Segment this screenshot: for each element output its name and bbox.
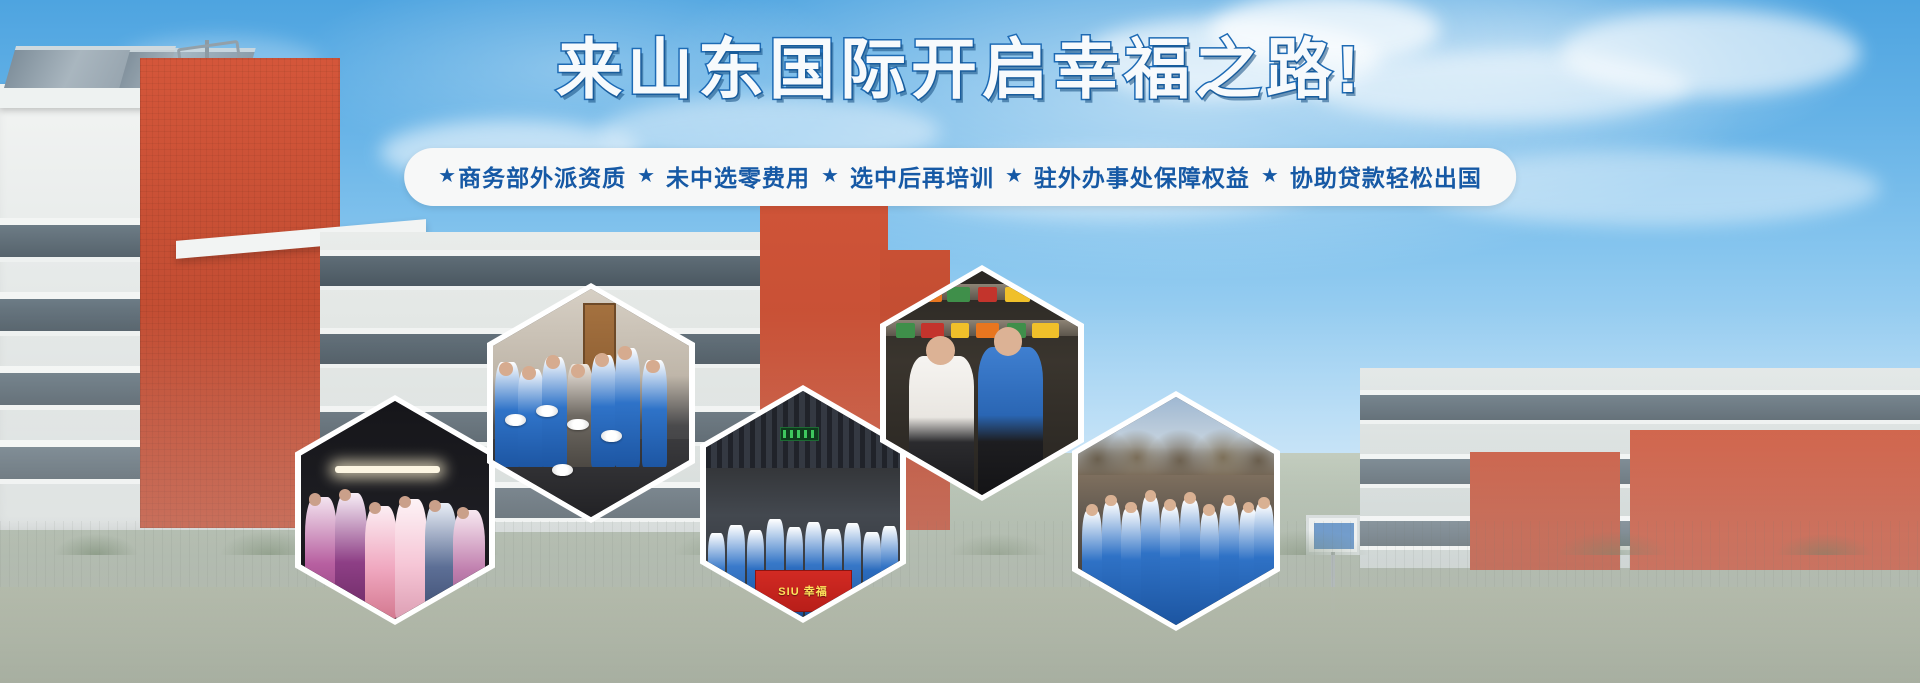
photo-red-banner: SIU 幸福	[755, 570, 852, 613]
promo-banner: 来山东国际开启幸福之路! ★ 商务部外派资质 ★ 未中选零费用 ★ 选中后再培训…	[0, 0, 1920, 683]
photo-banner-text: SIU 幸福	[778, 583, 827, 599]
star-icon: ★	[626, 166, 666, 186]
star-icon: ★	[810, 166, 850, 186]
photo-outdoor-group[interactable]	[1072, 391, 1280, 631]
feature-item-4: 协助贷款轻松出国	[1290, 159, 1482, 193]
photo-yukata-group[interactable]	[295, 395, 495, 625]
feature-item-3: 驻外办事处保障权益	[1034, 159, 1250, 193]
star-icon: ★	[438, 166, 458, 186]
star-icon: ★	[994, 166, 1034, 186]
star-icon: ★	[1250, 166, 1290, 186]
photo-group-banner[interactable]: SIU 幸福	[700, 385, 906, 623]
feature-item-0: 商务部外派资质	[458, 159, 626, 193]
feature-item-2: 选中后再培训	[850, 159, 994, 193]
hexagon-photo-row: SIU 幸福	[0, 353, 1920, 683]
page-title: 来山东国际开启幸福之路!	[0, 36, 1920, 102]
feature-pill: ★ 商务部外派资质 ★ 未中选零费用 ★ 选中后再培训 ★ 驻外办事处保障权益 …	[404, 148, 1516, 206]
feature-item-1: 未中选零费用	[666, 159, 810, 193]
